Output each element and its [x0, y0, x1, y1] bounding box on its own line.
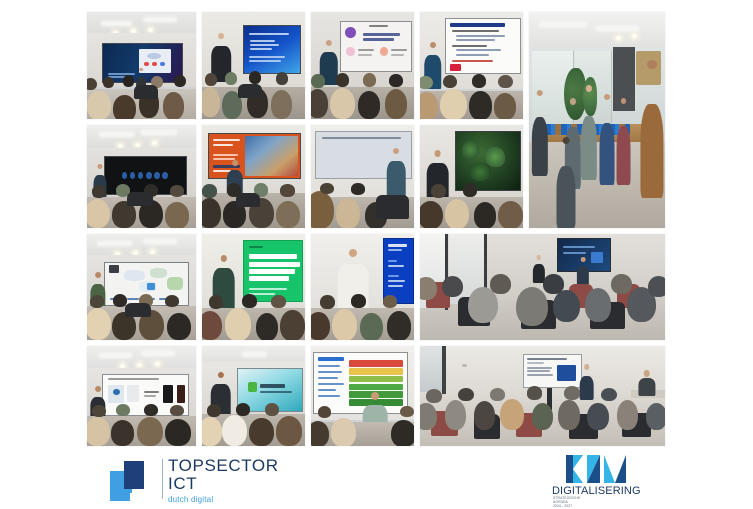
audience-head — [276, 416, 303, 446]
photo-scene — [420, 125, 523, 228]
topsector-mark-notch — [124, 489, 132, 493]
ceiling-light-strip — [144, 240, 177, 243]
audience-head — [646, 403, 665, 430]
attendee-head — [537, 90, 544, 97]
slide-table-row — [349, 368, 403, 375]
topsector-mark-icon — [110, 461, 156, 501]
audience-head — [165, 202, 189, 228]
audience-head — [351, 294, 365, 308]
audience-head — [271, 295, 285, 308]
speaker-head — [325, 40, 331, 46]
kia-k-stem — [566, 455, 573, 483]
topsector-wordmark: TOPSECTOR ICT dutch digital — [168, 457, 279, 505]
audience-head — [611, 274, 632, 294]
slide-text-line — [249, 288, 287, 290]
audience-head — [494, 93, 516, 119]
ceiling-light-strip — [142, 131, 177, 134]
slide-text-line — [318, 365, 340, 367]
slide-title — [318, 357, 344, 361]
audience-head — [202, 417, 222, 446]
slide-graphic — [591, 252, 602, 263]
audience-head — [249, 418, 273, 446]
slide-foliage — [469, 163, 491, 180]
audience — [420, 264, 665, 340]
slide-text-line — [318, 383, 344, 385]
slide-icon — [130, 172, 136, 179]
audience — [420, 181, 523, 228]
slide-text-line — [318, 389, 337, 391]
slide-logo — [109, 265, 119, 273]
presentation-screen — [340, 21, 412, 72]
slide-text-line — [250, 44, 279, 46]
slide-headline — [249, 276, 289, 281]
speaker-head — [371, 392, 379, 400]
audience — [311, 291, 414, 340]
slide-title-line — [369, 25, 389, 27]
audience-head — [265, 403, 279, 416]
topsector-divider — [162, 459, 163, 499]
audience-head — [330, 88, 354, 120]
audience-head — [585, 288, 611, 322]
audience-head — [311, 89, 328, 118]
photo-scene — [420, 346, 665, 446]
wall-fixture — [462, 364, 467, 367]
audience-head — [271, 90, 292, 119]
slide-text-line — [527, 374, 553, 376]
slide-title — [108, 378, 159, 380]
audience-head — [420, 201, 443, 228]
attendee-body — [600, 123, 615, 185]
photo-scene — [420, 12, 523, 119]
slide-foliage — [485, 147, 504, 167]
topsector-mark-dark-square — [124, 461, 144, 489]
speaker-head — [232, 160, 238, 166]
photo-scene — [87, 346, 196, 446]
audience-head — [440, 89, 467, 119]
audience — [202, 400, 305, 446]
slide-graphic — [557, 365, 576, 381]
slide-text-line — [388, 280, 405, 282]
audience-head — [385, 89, 407, 119]
slide-title — [450, 23, 505, 27]
slide-bubble — [150, 268, 167, 277]
audience-head — [90, 295, 104, 308]
audience-head — [527, 386, 543, 400]
slide-text-line — [452, 60, 494, 62]
slide-icon — [122, 172, 128, 179]
slide-icon — [146, 172, 152, 179]
attendee — [616, 98, 631, 184]
audience-head — [332, 309, 356, 340]
slide-icon — [147, 283, 155, 290]
ceiling — [87, 346, 196, 370]
audience-head — [320, 183, 333, 194]
slide-logo-text — [260, 384, 286, 388]
audience-head — [256, 313, 278, 340]
audience-head — [311, 191, 334, 228]
slide-text-line — [388, 260, 398, 262]
presentation-screen — [243, 25, 301, 74]
kia-a-left-wedge — [604, 455, 615, 483]
audience-head — [167, 313, 191, 340]
audience-head — [490, 274, 511, 294]
slide-text-line — [391, 54, 404, 56]
audience-head — [420, 277, 437, 300]
attendee-body — [532, 117, 548, 176]
audience-head — [358, 91, 380, 119]
kia-subtext: STRATEGISCHE AGENDA 2024 - 2027 — [553, 497, 580, 508]
audience-head — [163, 92, 184, 119]
audience-head — [443, 75, 457, 89]
speaker-head — [95, 386, 101, 392]
ceiling-spotlight — [155, 362, 160, 366]
audience-head — [363, 73, 376, 87]
audience — [311, 400, 414, 446]
speaker-head — [218, 33, 224, 39]
audience-head — [116, 404, 130, 416]
audience-head — [474, 401, 495, 430]
topsector-ict-logo: TOPSECTOR ICT dutch digital — [110, 457, 300, 503]
audience — [87, 400, 196, 446]
collage-photo[interactable] — [420, 234, 665, 340]
attendee-head — [621, 98, 627, 104]
chair — [238, 84, 262, 99]
audience-head — [87, 417, 110, 446]
audience-head — [113, 95, 135, 119]
audience-head — [351, 183, 364, 194]
audience-head — [111, 420, 135, 446]
slide-text-line — [527, 370, 550, 372]
slide-text-line — [527, 367, 552, 369]
slide-text-line — [363, 33, 399, 36]
slide-title — [527, 358, 567, 360]
slide-title — [388, 244, 407, 247]
slide-text-line — [144, 391, 159, 393]
slide-icon — [160, 62, 165, 66]
audience-head — [103, 77, 115, 89]
slide-text-line — [213, 144, 233, 146]
audience-head — [225, 308, 252, 340]
audience-head — [280, 184, 294, 196]
slide-icon — [154, 172, 160, 179]
audience-head — [209, 295, 223, 309]
audience-head — [360, 313, 382, 340]
audience-head — [137, 417, 163, 446]
audience-head — [469, 91, 491, 119]
audience-head — [202, 198, 221, 228]
speaker-head — [430, 42, 436, 48]
ceiling-light-strip — [540, 23, 586, 26]
audience-head — [445, 400, 466, 430]
audience-head — [87, 78, 97, 91]
audience — [420, 384, 665, 446]
photo-scene — [311, 346, 414, 446]
photo-scene — [87, 125, 196, 228]
attendee-body — [616, 126, 631, 185]
slide-text-line — [144, 395, 156, 397]
audience-head — [474, 202, 496, 228]
presentation-screen — [523, 354, 582, 388]
chair — [376, 195, 409, 219]
slide-text-line — [563, 252, 586, 254]
page-root: TOPSECTOR ICT dutch digital DIGITALISERI… — [0, 0, 753, 509]
collage-photo[interactable] — [202, 234, 305, 340]
slide-bubble — [124, 270, 146, 281]
slide-table-row — [349, 384, 403, 391]
audience-head — [202, 311, 222, 340]
slide-headline — [249, 254, 297, 259]
photo-scene — [202, 125, 305, 228]
collage-photo[interactable] — [87, 125, 196, 228]
audience-head — [205, 73, 217, 86]
speaker-head — [98, 164, 103, 169]
slide-text-line — [260, 391, 292, 393]
speaker-head — [643, 370, 650, 377]
speaker-head — [394, 148, 400, 154]
photo-scene — [311, 125, 414, 228]
slide-text-line — [363, 38, 394, 41]
slide-text-line — [250, 40, 276, 42]
audience-head — [92, 185, 106, 197]
audience-head — [648, 276, 665, 297]
collage-photo[interactable] — [529, 12, 665, 228]
photo-scene — [311, 12, 414, 119]
attendee — [600, 94, 615, 185]
collage-photo[interactable] — [311, 125, 414, 228]
audience-head — [236, 403, 250, 416]
collage-photo[interactable] — [87, 346, 196, 446]
ceiling-light-strip — [142, 352, 175, 355]
slide-text-line — [318, 371, 342, 373]
slide-text-line — [388, 285, 403, 287]
audience-head — [426, 389, 442, 403]
collage-photo[interactable] — [202, 125, 305, 228]
speaker-head — [581, 257, 586, 262]
photo-scene — [529, 12, 665, 228]
audience-head — [202, 184, 216, 197]
kia-k-lower-wedge — [573, 469, 583, 483]
audience-head — [543, 274, 564, 294]
slide-text-line — [388, 249, 402, 251]
audience-head — [490, 388, 506, 402]
ceiling-light-strip — [100, 354, 131, 357]
attendee-head — [586, 85, 592, 91]
audience — [420, 70, 523, 119]
attendee-body — [556, 166, 575, 228]
slide-text-line — [249, 60, 281, 62]
audience-head — [165, 419, 191, 446]
slide-text-line — [456, 49, 501, 51]
audience-head — [165, 295, 179, 307]
audience-head — [92, 405, 106, 417]
audience-head — [445, 199, 469, 228]
audience-head — [249, 71, 261, 84]
audience-head — [276, 201, 300, 228]
slide-text-line — [249, 246, 263, 248]
slide-text-line — [358, 54, 372, 56]
audience-head — [320, 295, 334, 309]
collage-photo[interactable] — [202, 12, 305, 119]
audience-head — [318, 406, 331, 418]
audience — [311, 70, 414, 119]
collage-photo[interactable] — [311, 234, 414, 340]
kia-mark-icon — [566, 455, 626, 483]
attendee-head — [562, 137, 569, 144]
slide-text-line — [249, 56, 286, 58]
audience-head — [170, 405, 184, 416]
speaker-head — [95, 272, 101, 278]
kia-k-upper-wedge — [573, 455, 583, 469]
ceiling-spotlight — [135, 143, 140, 147]
audience-head — [420, 92, 438, 119]
slide-icon — [138, 172, 144, 179]
audience-head — [336, 198, 360, 228]
slide-text-line — [391, 49, 406, 51]
photo-scene — [311, 234, 414, 340]
audience-head — [463, 183, 477, 196]
collage-photo[interactable] — [311, 12, 414, 119]
slide-text-line — [388, 275, 400, 277]
audience-head — [207, 404, 221, 417]
audience-head — [498, 201, 522, 228]
slide-photo — [245, 136, 298, 176]
photo-scene — [202, 234, 305, 340]
audience — [87, 70, 196, 119]
collage-photo[interactable] — [87, 234, 196, 340]
audience-head — [564, 386, 580, 400]
slide-text-line — [452, 30, 500, 32]
audience-head — [331, 418, 355, 446]
audience-head — [276, 72, 288, 85]
audience — [202, 291, 305, 340]
audience-head — [311, 421, 329, 446]
kia-digitalisering-logo: DIGITALISERING STRATEGISCHE AGENDA 2024 … — [552, 455, 660, 507]
audience-head — [311, 312, 330, 340]
audience — [202, 70, 305, 119]
slide-foliage — [462, 141, 479, 158]
ceiling-spotlight — [632, 34, 637, 38]
attendee — [581, 85, 597, 180]
slide-logo — [345, 27, 356, 38]
slide-logo-mark — [248, 382, 257, 392]
photo-scene — [202, 12, 305, 119]
speaker-head — [434, 150, 441, 157]
presentation-screen — [445, 18, 521, 74]
ceiling-light-strip — [144, 18, 177, 21]
slide-text-line — [456, 39, 495, 41]
audience-head — [420, 76, 433, 90]
speaker-head — [217, 372, 223, 378]
chair — [127, 192, 153, 206]
slide-icon-card — [380, 47, 388, 56]
collage-photo[interactable] — [311, 346, 414, 446]
audience-head — [500, 399, 524, 430]
slide-headline — [249, 262, 300, 267]
presentation-screen — [208, 133, 301, 178]
collage-photo[interactable] — [87, 12, 196, 119]
audience-head — [553, 290, 579, 322]
collage-photo[interactable] — [420, 125, 523, 228]
audience-head — [472, 74, 486, 88]
attendee-body — [641, 104, 664, 198]
collage-photo[interactable] — [420, 12, 523, 119]
audience-head — [144, 404, 158, 416]
audience-head — [280, 310, 304, 340]
speaker-head — [349, 249, 357, 257]
slide-text-line — [213, 139, 240, 141]
audience — [87, 181, 196, 228]
slide-text-line — [452, 45, 488, 47]
audience-head — [458, 388, 474, 402]
audience-head — [431, 184, 445, 197]
audience-head — [311, 74, 324, 88]
audience-head — [389, 74, 402, 87]
audience-head — [391, 420, 414, 446]
slide-text-line — [213, 154, 238, 156]
ceiling-light-strip — [100, 133, 133, 136]
slide-icon — [152, 62, 157, 66]
audience-head — [225, 72, 237, 85]
collage-photo[interactable] — [420, 346, 665, 446]
chair — [134, 85, 158, 100]
slide-text-line — [358, 49, 375, 51]
attendee — [641, 60, 664, 198]
slide-text-line — [249, 33, 289, 35]
attendee — [556, 137, 575, 228]
attendee-head — [569, 98, 575, 104]
attendee-body — [581, 116, 597, 181]
audience-head — [420, 403, 437, 430]
attendee-head — [647, 60, 657, 70]
slide-text-line — [322, 137, 402, 139]
footer-logos: TOPSECTOR ICT dutch digital DIGITALISERI… — [0, 455, 753, 509]
audience-head — [202, 87, 220, 118]
kia-a-right-wedge — [615, 455, 626, 483]
speaker-head — [584, 364, 590, 370]
slide-text-line — [527, 362, 544, 364]
photo-scene — [202, 346, 305, 446]
audience-head — [387, 311, 411, 340]
audience-head — [170, 185, 184, 196]
topsector-line2: ICT — [168, 475, 279, 493]
audience-head — [617, 400, 638, 430]
topsector-line1: TOPSECTOR — [168, 457, 279, 474]
photo-scene — [87, 12, 196, 119]
audience — [311, 181, 414, 228]
slide-text-line — [388, 265, 404, 267]
audience-head — [558, 400, 579, 430]
slide-text-line — [456, 35, 505, 37]
speaker-head — [536, 255, 541, 260]
ceiling-spotlight — [616, 36, 621, 40]
ceiling-light-strip — [597, 27, 638, 30]
audience-head — [587, 403, 608, 430]
slide-icon — [162, 172, 168, 179]
slide-table-row — [349, 360, 403, 367]
photo-scene — [87, 234, 196, 340]
audience-head — [383, 295, 397, 308]
slide-text-line — [456, 54, 489, 56]
audience-head — [516, 287, 548, 327]
collage-photo[interactable] — [202, 346, 305, 446]
ceiling — [87, 125, 196, 150]
kia-i-lower-wedge — [587, 455, 600, 483]
slide-text-line — [563, 246, 594, 248]
slide-icon — [144, 62, 149, 66]
slide-text-line — [318, 377, 338, 379]
audience-head — [442, 276, 463, 297]
slide-icon-card — [346, 47, 354, 56]
